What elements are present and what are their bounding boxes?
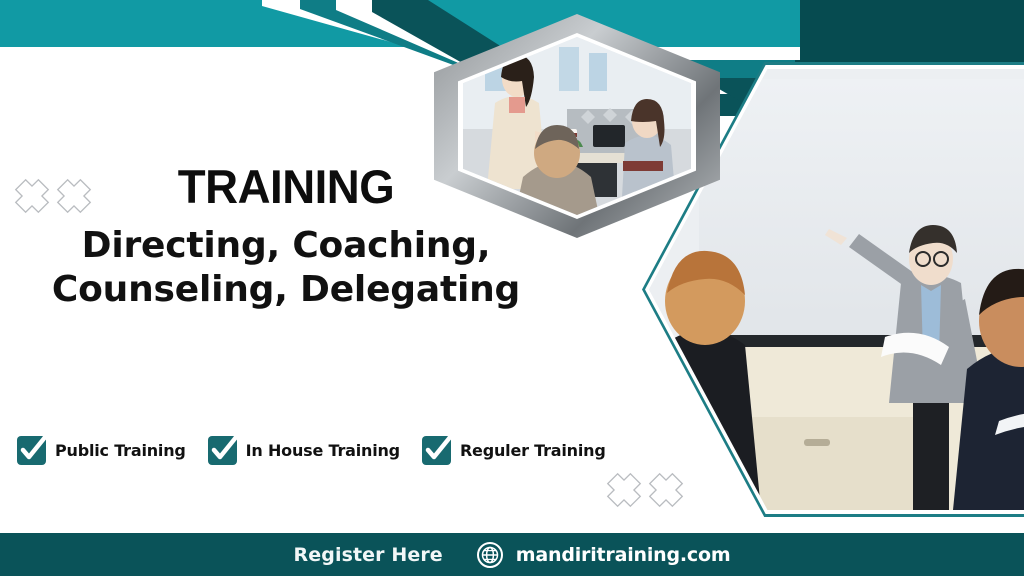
- training-option-label: In House Training: [246, 441, 400, 460]
- checkbox-checked-icon[interactable]: [208, 436, 237, 465]
- website-url[interactable]: mandiritraining.com: [516, 544, 731, 566]
- subtitle-line-1: Directing, Coaching,: [0, 224, 572, 268]
- training-options-row: Public Training In House Training Regule…: [17, 436, 606, 465]
- x-cross-icon: [14, 178, 50, 214]
- x-decoration-left: [14, 178, 92, 214]
- footer-bar: Register Here mandiritraining.com: [0, 533, 1024, 576]
- page-subtitle: Directing, Coaching, Counseling, Delegat…: [0, 224, 572, 312]
- checkbox-checked-icon[interactable]: [17, 436, 46, 465]
- register-cta[interactable]: Register Here: [294, 544, 443, 566]
- x-cross-icon: [648, 472, 684, 508]
- x-cross-icon: [606, 472, 642, 508]
- training-option-in-house[interactable]: In House Training: [208, 436, 400, 465]
- check-mark-icon: [420, 432, 456, 466]
- checkbox-checked-icon[interactable]: [422, 436, 451, 465]
- x-decoration-right: [606, 472, 684, 508]
- training-option-reguler[interactable]: Reguler Training: [422, 436, 606, 465]
- training-poster: TRAINING Directing, Coaching, Counseling…: [0, 0, 1024, 576]
- training-option-public[interactable]: Public Training: [17, 436, 186, 465]
- website-group[interactable]: mandiritraining.com: [477, 542, 731, 568]
- training-option-label: Public Training: [55, 441, 186, 460]
- training-option-label: Reguler Training: [460, 441, 606, 460]
- x-cross-icon: [56, 178, 92, 214]
- check-mark-icon: [206, 432, 242, 466]
- globe-icon: [477, 542, 503, 568]
- check-mark-icon: [15, 432, 51, 466]
- subtitle-line-2: Counseling, Delegating: [0, 268, 572, 312]
